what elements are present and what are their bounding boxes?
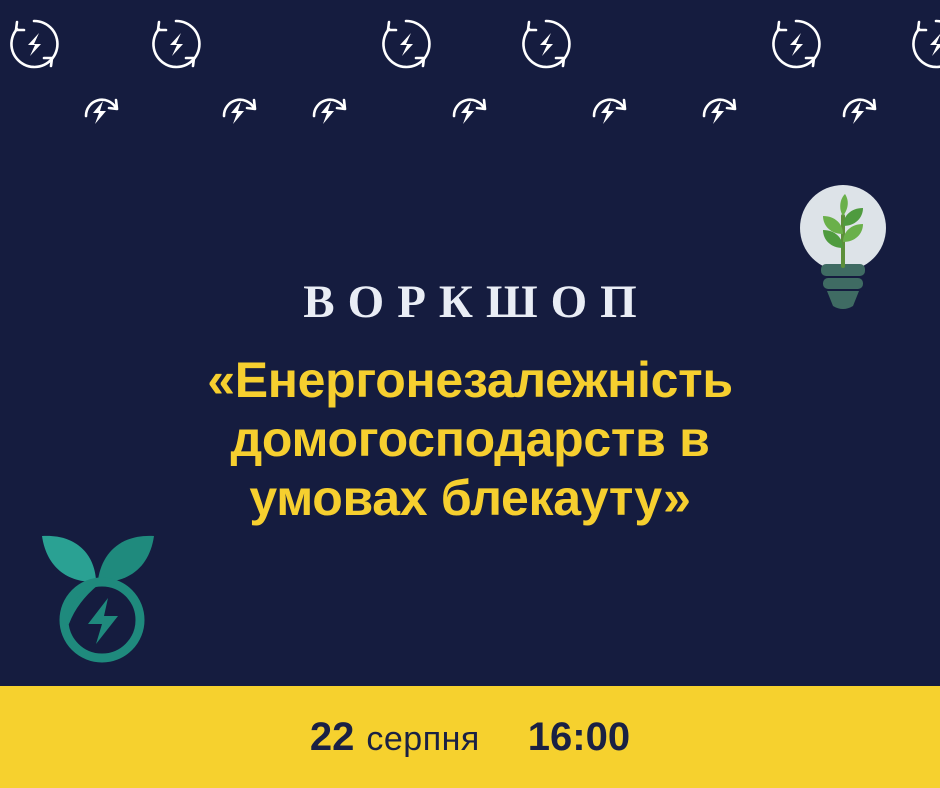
recycle-bolt-icon [518, 16, 574, 72]
arrow-bolt-icon [216, 86, 262, 130]
poster-text-block: ВОРКШОП «Енергонезалежність домогосподар… [0, 276, 940, 528]
poster-canvas: ВОРКШОП «Енергонезалежність домогосподар… [0, 0, 940, 788]
page-title-headline: «Енергонезалежність домогосподарств в ум… [0, 351, 940, 528]
arrow-bolt-icon [586, 86, 632, 130]
recycle-bolt-icon [768, 16, 824, 72]
event-date-inner: 22 серпня 16:00 [310, 715, 630, 760]
event-time: 16:00 [528, 715, 630, 760]
event-date-bar: 22 серпня 16:00 [0, 686, 940, 788]
decorative-pattern [0, 0, 940, 160]
recycle-bolt-icon [908, 16, 940, 72]
event-month: серпня [366, 720, 479, 759]
arrow-bolt-icon [446, 86, 492, 130]
pattern-row-top [0, 16, 940, 86]
arrow-bolt-icon [696, 86, 742, 130]
headline-line-1: «Енергонезалежність [78, 351, 862, 410]
headline-line-2: домогосподарств в [78, 410, 862, 469]
recycle-bolt-icon [148, 16, 204, 72]
page-title-kicker: ВОРКШОП [0, 276, 940, 329]
event-day: 22 [310, 715, 355, 760]
recycle-bolt-icon [6, 16, 62, 72]
recycle-bolt-icon [378, 16, 434, 72]
pattern-row-bottom [0, 86, 940, 156]
headline-line-3: умовах блекауту» [78, 469, 862, 528]
arrow-bolt-icon [78, 86, 124, 130]
leaf-bolt-icon [28, 518, 174, 664]
arrow-bolt-icon [836, 86, 882, 130]
arrow-bolt-icon [306, 86, 352, 130]
